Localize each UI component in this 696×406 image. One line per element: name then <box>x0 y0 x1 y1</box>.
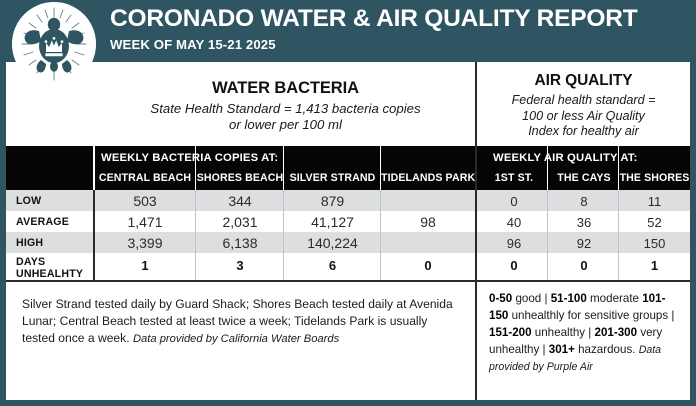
body-rule-3 <box>283 190 284 280</box>
water-col-central-beach: CENTRAL BEACH <box>94 172 196 184</box>
page-title: CORONADO WATER & AIR QUALITY REPORT <box>110 6 690 32</box>
row-label-average: AVERAGE <box>16 216 69 228</box>
header-text-block: CORONADO WATER & AIR QUALITY REPORT WEEK… <box>110 6 690 52</box>
body-rule-4 <box>380 190 381 280</box>
row-label-days-unhealthy: DAYS UNHEALHTY <box>16 256 83 280</box>
air-table-header: WEEKLY AIR QUALITY AT: 1ST ST. THE CAYS … <box>477 146 690 190</box>
header-sep-1 <box>93 146 95 190</box>
air-table-bottom-rule <box>477 280 690 282</box>
aqi-label-sensitive: unhealthly for sensitive groups | <box>508 309 674 322</box>
aqi-label-hazardous: hazardous. <box>575 343 639 356</box>
cell-days-1st-st: 0 <box>479 258 549 273</box>
row-label-days-line1: DAYS <box>16 256 45 268</box>
cell-avg-central: 1,471 <box>94 214 196 230</box>
cell-low-silver: 879 <box>284 193 381 209</box>
water-standard-line1: State Health Standard = 1,413 bacteria c… <box>150 101 420 117</box>
cell-low-the-cays: 8 <box>549 194 619 209</box>
air-standard-block: AIR QUALITY Federal health standard = 10… <box>477 62 690 146</box>
water-col-silver-strand: SILVER STRAND <box>284 172 381 184</box>
cell-days-the-cays: 0 <box>549 258 619 273</box>
cell-days-shores: 3 <box>196 258 284 273</box>
air-table-title: WEEKLY AIR QUALITY AT: <box>493 152 638 164</box>
report-page: CORONADO WATER & AIR QUALITY REPORT WEEK… <box>0 0 696 406</box>
water-footnote-source: Data provided by California Water Boards <box>133 333 339 345</box>
cell-days-the-shores: 1 <box>619 258 690 273</box>
air-standard-line1: Federal health standard = <box>512 93 656 109</box>
body-rule-2 <box>195 190 196 280</box>
data-rows: LOW 503 344 879 0 8 11 AVERAGE 1,471 2,0… <box>6 190 690 280</box>
air-standard-text: Federal health standard = 100 or less Ai… <box>512 93 656 141</box>
cell-low-shores: 344 <box>196 193 284 209</box>
air-standard-line2: 100 or less Air Quality <box>512 109 656 125</box>
cell-high-the-cays: 92 <box>549 236 619 251</box>
table-row: DAYS UNHEALHTY 1 3 6 0 0 0 1 <box>6 253 690 280</box>
water-footnote: Silver Strand tested daily by Guard Shac… <box>6 282 475 400</box>
water-heading: WATER BACTERIA <box>212 79 359 98</box>
cell-avg-silver: 41,127 <box>284 214 381 230</box>
page-subtitle: WEEK OF MAY 15-21 2025 <box>110 37 690 52</box>
table-row: AVERAGE 1,471 2,031 41,127 98 40 36 52 <box>6 211 690 232</box>
air-col-1st-st: 1ST ST. <box>479 172 549 184</box>
water-table-bottom-rule <box>6 280 475 282</box>
water-table-title: WEEKLY BACTERIA COPIES AT: <box>101 152 278 164</box>
aqi-range-151-200: 151-200 <box>489 326 532 339</box>
body-rule-1 <box>93 190 95 280</box>
row-label-days-line2: UNHEALHTY <box>16 268 83 280</box>
water-col-tidelands-park: TIDELANDS PARK <box>381 172 475 184</box>
header-sep-2 <box>195 146 196 190</box>
cell-high-1st-st: 96 <box>479 236 549 251</box>
aqi-label-moderate: moderate <box>587 292 639 305</box>
water-standard-line2: or lower per 100 ml <box>150 117 420 133</box>
aqi-range-201-300: 201-300 <box>595 326 638 339</box>
cell-days-silver: 6 <box>284 258 381 273</box>
cell-days-tidelands: 0 <box>381 258 475 273</box>
cell-avg-the-cays: 36 <box>549 215 619 230</box>
cell-low-the-shores: 11 <box>619 194 690 209</box>
air-legend: 0-50 good | 51-100 moderate 101-150 unhe… <box>477 282 690 400</box>
cell-days-central: 1 <box>94 258 196 273</box>
cell-high-shores: 6,138 <box>196 235 284 251</box>
table-row: LOW 503 344 879 0 8 11 <box>6 190 690 211</box>
cell-high-central: 3,399 <box>94 235 196 251</box>
turtle-crown-badge-icon <box>12 2 96 86</box>
aqi-label-good: good | <box>512 292 550 305</box>
table-row: HIGH 3,399 6,138 140,224 96 92 150 <box>6 232 690 253</box>
section-divider <box>475 62 477 400</box>
cell-high-silver: 140,224 <box>284 235 381 251</box>
air-col-the-cays: THE CAYS <box>549 172 619 184</box>
header-sep-3 <box>283 146 284 190</box>
water-table-header: WEEKLY BACTERIA COPIES AT: CENTRAL BEACH… <box>6 146 475 190</box>
water-col-shores-beach: SHORES BEACH <box>196 172 284 184</box>
cell-avg-tidelands: 98 <box>381 214 475 230</box>
water-standard-text: State Health Standard = 1,413 bacteria c… <box>150 101 420 134</box>
header-sep-6 <box>618 146 619 190</box>
body-rule-5 <box>547 190 548 280</box>
header-sep-5 <box>547 146 548 190</box>
cell-low-1st-st: 0 <box>479 194 549 209</box>
report-body: WATER BACTERIA State Health Standard = 1… <box>6 62 690 400</box>
cell-high-the-shores: 150 <box>619 236 690 251</box>
aqi-range-51-100: 51-100 <box>551 292 587 305</box>
cell-low-central: 503 <box>94 193 196 209</box>
header-sep-4 <box>380 146 381 190</box>
row-label-low: LOW <box>16 195 41 207</box>
cell-avg-shores: 2,031 <box>196 214 284 230</box>
air-col-the-shores: THE SHORES <box>619 172 690 184</box>
cell-avg-the-shores: 52 <box>619 215 690 230</box>
air-heading: AIR QUALITY <box>535 72 633 90</box>
body-rule-6 <box>618 190 619 280</box>
cell-avg-1st-st: 40 <box>479 215 549 230</box>
row-label-high: HIGH <box>16 237 43 249</box>
aqi-range-0-50: 0-50 <box>489 292 512 305</box>
air-standard-line3: Index for healthy air <box>512 124 656 140</box>
report-header: CORONADO WATER & AIR QUALITY REPORT WEEK… <box>0 0 696 62</box>
aqi-range-301-plus: 301+ <box>549 343 575 356</box>
aqi-label-unhealthy: unhealthy | <box>532 326 595 339</box>
